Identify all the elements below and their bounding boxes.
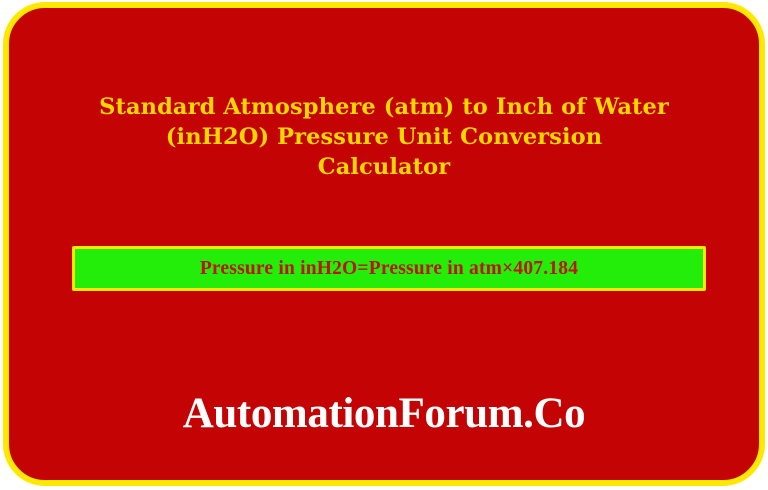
page-title: Standard Atmosphere (atm) to Inch of Wat… <box>9 92 759 182</box>
poster-canvas: Standard Atmosphere (atm) to Inch of Wat… <box>0 0 768 490</box>
page-title-line-1: Standard Atmosphere (atm) to Inch of Wat… <box>81 92 687 122</box>
page-title-line-2: (inH2O) Pressure Unit Conversion <box>81 122 687 152</box>
page-title-line-3: Calculator <box>81 152 687 182</box>
conversion-formula-box: Pressure in inH2O=Pressure in atm×407.18… <box>72 246 706 291</box>
conversion-calculator-card: Standard Atmosphere (atm) to Inch of Wat… <box>3 2 765 486</box>
conversion-formula-text: Pressure in inH2O=Pressure in atm×407.18… <box>200 258 578 280</box>
brand-wordmark: AutomationForum.Co <box>9 388 759 440</box>
